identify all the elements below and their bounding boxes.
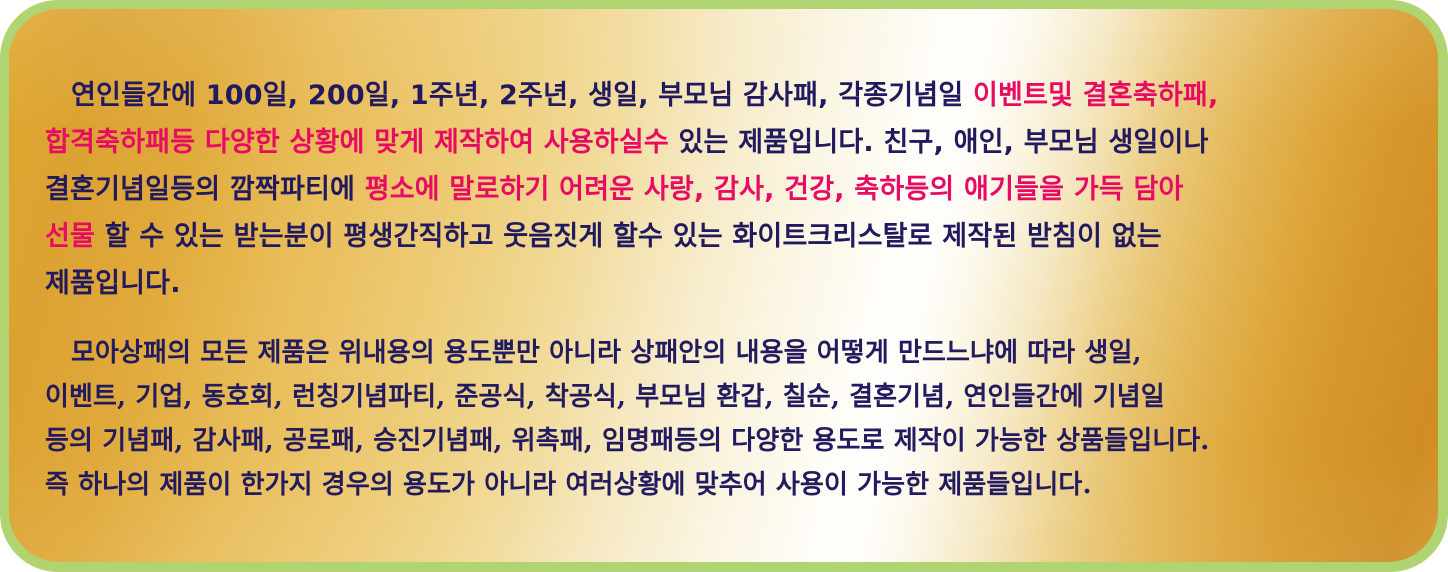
- text-run: 할 수 있는 받는분이 평생간직하고 웃음짓게 할수 있는 화이트크리스탈로 제…: [95, 221, 1162, 252]
- text-run: 있는 제품입니다. 친구, 애인, 부모님 생일이나: [669, 127, 1209, 158]
- text-run: 이벤트, 기업, 동호회, 런칭기념파티, 준공식, 착공식, 부모님 환갑, …: [45, 382, 1165, 412]
- highlighted-text-run: 합격축하패등 다양한 상황에 맞게 제작하여 사용하실수: [45, 127, 669, 158]
- text-run: 연인들간에 100일, 200일, 1주년, 2주년, 생일, 부모님 감사패,…: [71, 80, 973, 111]
- text-run: 등의 기념패, 감사패, 공로패, 승진기념패, 위촉패, 임명패등의 다양한 …: [45, 426, 1209, 456]
- text-line: 연인들간에 100일, 200일, 1주년, 2주년, 생일, 부모님 감사패,…: [45, 72, 1404, 119]
- highlighted-text-run: 이벤트및 결혼축하패,: [973, 80, 1218, 111]
- highlighted-text-run: 선물: [45, 221, 95, 252]
- product-description-banner: 연인들간에 100일, 200일, 1주년, 2주년, 생일, 부모님 감사패,…: [0, 0, 1448, 572]
- text-run: 모아상패의 모든 제품은 위내용의 용도뿐만 아니라 상패안의 내용을 어떻게 …: [71, 338, 1142, 368]
- banner-content: 연인들간에 100일, 200일, 1주년, 2주년, 생일, 부모님 감사패,…: [9, 9, 1438, 562]
- gold-gradient-plate: 연인들간에 100일, 200일, 1주년, 2주년, 생일, 부모님 감사패,…: [9, 9, 1438, 562]
- text-line: 결혼기념일등의 깜짝파티에 평소에 말로하기 어려운 사랑, 감사, 건강, 축…: [45, 166, 1404, 213]
- paragraph-usage: 모아상패의 모든 제품은 위내용의 용도뿐만 아니라 상패안의 내용을 어떻게 …: [9, 331, 1438, 507]
- text-line: 즉 하나의 제품이 한가지 경우의 용도가 아니라 여러상황에 맞추어 사용이 …: [45, 463, 1404, 507]
- text-line: 합격축하패등 다양한 상황에 맞게 제작하여 사용하실수 있는 제품입니다. 친…: [45, 119, 1404, 166]
- text-run: 결혼기념일등의 깜짝파티에: [45, 174, 365, 205]
- text-run: 즉 하나의 제품이 한가지 경우의 용도가 아니라 여러상황에 맞추어 사용이 …: [45, 470, 1092, 500]
- text-line: 등의 기념패, 감사패, 공로패, 승진기념패, 위촉패, 임명패등의 다양한 …: [45, 419, 1404, 463]
- highlighted-text-run: 평소에 말로하기 어려운 사랑, 감사, 건강, 축하등의 애기들을 가득 담아: [365, 174, 1184, 205]
- text-line: 이벤트, 기업, 동호회, 런칭기념파티, 준공식, 착공식, 부모님 환갑, …: [45, 375, 1404, 419]
- paragraph-intro: 연인들간에 100일, 200일, 1주년, 2주년, 생일, 부모님 감사패,…: [9, 72, 1438, 307]
- text-line: 모아상패의 모든 제품은 위내용의 용도뿐만 아니라 상패안의 내용을 어떻게 …: [45, 331, 1404, 375]
- text-line: 선물 할 수 있는 받는분이 평생간직하고 웃음짓게 할수 있는 화이트크리스탈…: [45, 213, 1404, 260]
- text-run: 제품입니다.: [45, 268, 181, 299]
- text-line: 제품입니다.: [45, 260, 1404, 307]
